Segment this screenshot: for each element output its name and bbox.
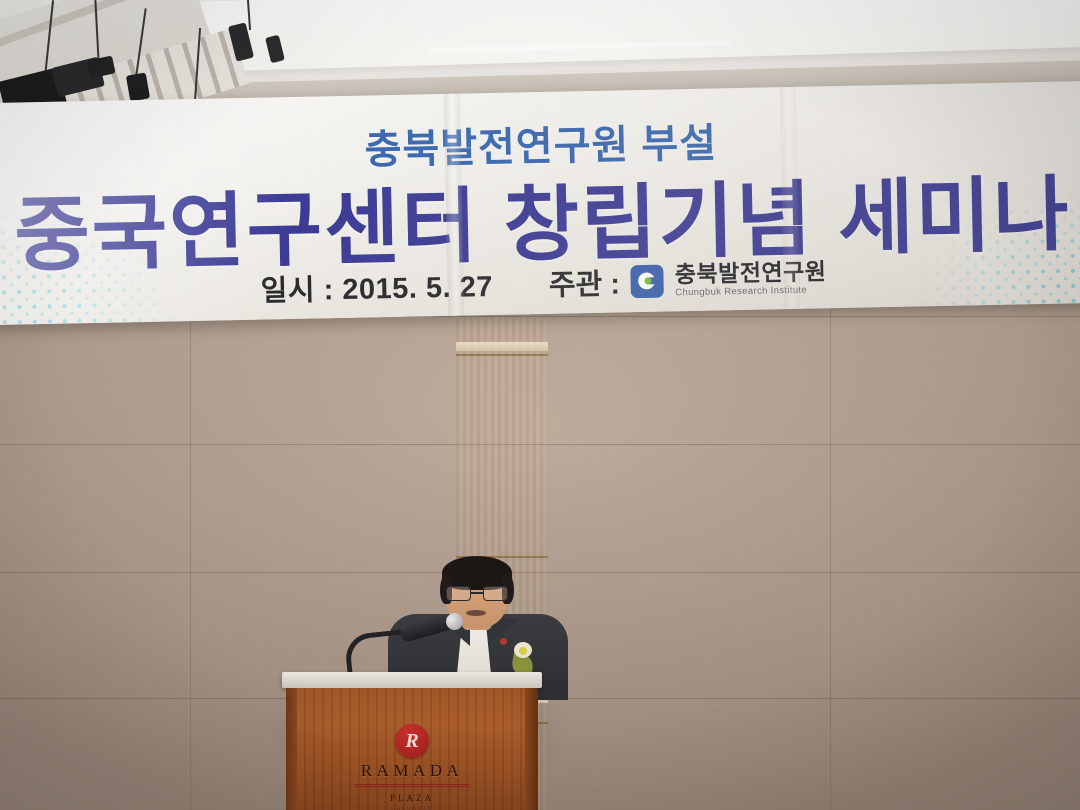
corsage-center	[519, 647, 527, 655]
ramada-tier-label: PLAZA	[390, 793, 434, 803]
podium-top-surface	[282, 672, 542, 688]
corsage-flower	[510, 642, 536, 676]
column-tape	[456, 342, 548, 351]
mouth	[466, 610, 486, 616]
organizer-name-korean: 충북발전연구원	[675, 259, 827, 286]
organizer-names: 충북발전연구원 Chungbuk Research Institute	[675, 259, 827, 298]
lens-right	[483, 586, 508, 601]
eyeglasses-icon	[446, 586, 508, 601]
banner-host-label: 주관 :	[548, 260, 620, 303]
ceiling-soffit	[119, 0, 1080, 74]
lens-bridge	[471, 592, 483, 594]
podium: R RAMADA PLAZA CHEONGJU	[286, 672, 538, 810]
lens-left	[446, 586, 471, 601]
ramada-mark-icon: R	[395, 724, 429, 758]
stage-light-fixture	[126, 72, 150, 101]
column-seam	[456, 354, 548, 356]
ramada-divider	[355, 784, 469, 788]
photograph-scene: R RAMADA PLAZA CHEONGJU 충북발전연구원 부설 중국연구센…	[0, 0, 1080, 810]
ramada-location-label: CHEONGJU	[391, 806, 433, 810]
lapel-pin	[500, 638, 507, 645]
ramada-wordmark: RAMADA	[361, 761, 464, 781]
chungbuk-research-institute-logo-icon	[631, 264, 665, 298]
event-banner: 충북발전연구원 부설 중국연구센터 창립기념 세미나 일시 : 2015. 5.…	[0, 81, 1080, 325]
ramada-logo: R RAMADA PLAZA CHEONGJU	[286, 724, 538, 810]
organizer-name-english: Chungbuk Research Institute	[675, 285, 827, 298]
